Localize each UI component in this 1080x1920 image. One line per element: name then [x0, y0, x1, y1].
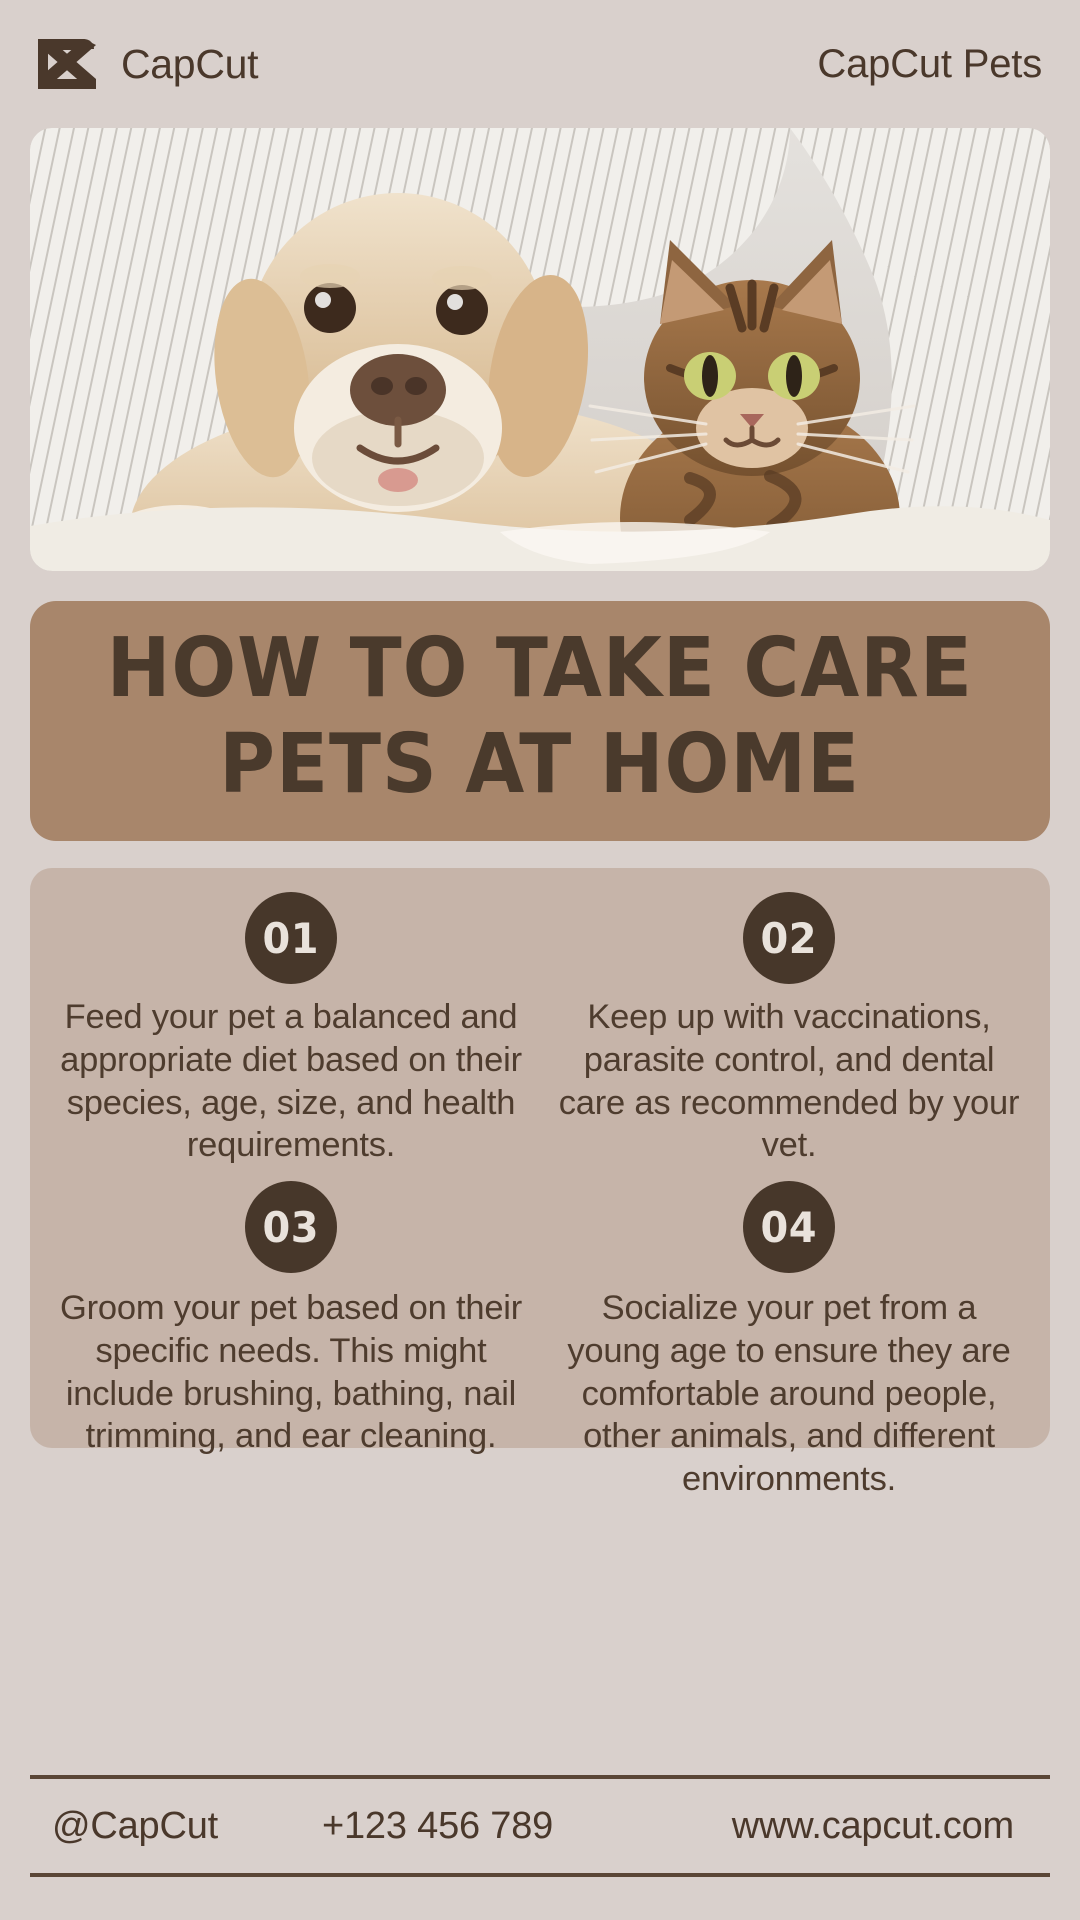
tips-panel: 01 Feed your pet a balanced and appropri… [30, 868, 1050, 1448]
tip-text: Groom your pet based on their specific n… [56, 1287, 526, 1458]
tip-number-badge: 02 [743, 892, 835, 984]
footer-divider-bottom [30, 1873, 1050, 1877]
footer-social-handle[interactable]: @CapCut [52, 1805, 322, 1848]
brand-lockup: CapCut [32, 35, 258, 93]
tip-number: 03 [263, 1203, 319, 1252]
tip-number: 04 [761, 1203, 817, 1252]
capcut-logo-icon [32, 35, 102, 93]
tip-number-badge: 01 [245, 892, 337, 984]
tip-card: 03 Groom your pet based on their specifi… [42, 1167, 540, 1501]
tip-text: Feed your pet a balanced and appropriate… [56, 996, 526, 1167]
tip-text: Keep up with vaccinations, parasite cont… [554, 996, 1024, 1167]
tip-text: Socialize your pet from a young age to e… [554, 1287, 1024, 1501]
page-header: CapCut CapCut Pets [0, 0, 1080, 128]
hero-photo [30, 128, 1050, 571]
tip-card: 04 Socialize your pet from a young age t… [540, 1167, 1038, 1501]
tip-card: 01 Feed your pet a balanced and appropri… [42, 878, 540, 1167]
tip-number: 02 [761, 914, 817, 963]
header-right-label: CapCut Pets [817, 42, 1042, 87]
brand-name: CapCut [121, 41, 258, 88]
title-banner: HOW TO TAKE CARE PETS AT HOME [30, 601, 1050, 841]
hero-illustration [30, 128, 1050, 571]
tip-number-badge: 04 [743, 1181, 835, 1273]
page-footer: @CapCut +123 456 789 www.capcut.com [30, 1779, 1050, 1873]
tip-number-badge: 03 [245, 1181, 337, 1273]
tip-number: 01 [263, 914, 319, 963]
infographic-page: CapCut CapCut Pets [0, 0, 1080, 1920]
footer-phone[interactable]: +123 456 789 [322, 1805, 652, 1848]
page-title-line-2: PETS AT HOME [220, 724, 861, 806]
tip-card: 02 Keep up with vaccinations, parasite c… [540, 878, 1038, 1167]
page-title-line-1: HOW TO TAKE CARE [107, 628, 973, 710]
footer-website[interactable]: www.capcut.com [652, 1805, 1028, 1848]
